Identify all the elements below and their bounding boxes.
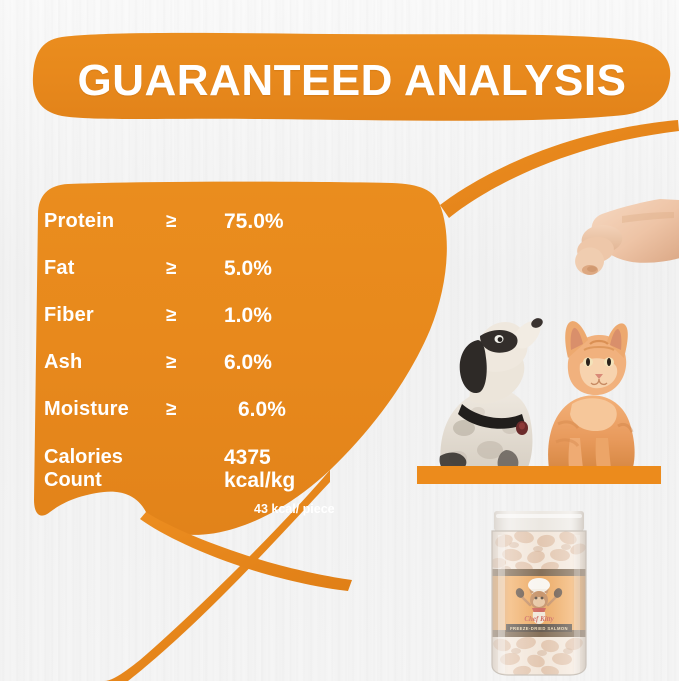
page-title: GUARANTEED ANALYSIS: [34, 44, 670, 118]
calories-block: Calories Count 4375 kcal/kg: [44, 446, 364, 492]
calories-label-line1: Calories: [44, 446, 224, 469]
nutrient-name: Fat: [44, 257, 166, 280]
nutrient-value: 1.0%: [224, 304, 364, 328]
nutrient-value: 6.0%: [224, 351, 364, 375]
dog-and-cat-photo: [418, 300, 668, 475]
table-row: Ash ≥ 6.0%: [44, 339, 364, 386]
nutrient-operator: ≥: [166, 211, 224, 233]
nutrient-operator: ≥: [166, 305, 224, 327]
nutrient-operator: ≥: [166, 399, 224, 421]
nutrient-value: 75.0%: [224, 210, 364, 234]
calories-value-line1: 4375: [224, 446, 295, 469]
nutrient-operator: ≥: [166, 258, 224, 280]
dog-figure: [440, 316, 545, 475]
nutrient-name: Moisture: [44, 398, 166, 421]
table-row: Protein ≥ 75.0%: [44, 198, 364, 245]
nutrient-name: Ash: [44, 351, 166, 374]
nutrient-name: Protein: [44, 210, 166, 233]
nutrient-name: Fiber: [44, 304, 166, 327]
treat-jar-product-photo: Chef Kitty FREEZE-DRIED SALMON Net Wt: [478, 505, 600, 677]
table-row: Moisture ≥ 6.0%: [44, 386, 364, 433]
table-row: Fat ≥ 5.0%: [44, 245, 364, 292]
calories-value-line2: kcal/kg: [224, 469, 295, 492]
calories-per-piece-note: 43 kcal/ piece: [254, 502, 335, 516]
calories-value: 4375 kcal/kg: [224, 446, 295, 492]
calories-label-line2: Count: [44, 469, 224, 492]
nutrient-value: 5.0%: [224, 257, 364, 281]
guaranteed-analysis-table: Protein ≥ 75.0% Fat ≥ 5.0% Fiber ≥ 1.0% …: [44, 198, 364, 433]
cat-figure: [548, 321, 635, 475]
hand-holding-treat-photo: [556, 186, 679, 290]
table-row: Fiber ≥ 1.0%: [44, 292, 364, 339]
nutrient-value: 6.0%: [224, 398, 364, 422]
orange-accent-bar: [417, 466, 661, 484]
nutrient-operator: ≥: [166, 352, 224, 374]
product-infographic: GUARANTEED ANALYSIS Protein ≥ 75.0% Fat …: [0, 0, 679, 681]
calories-label: Calories Count: [44, 446, 224, 492]
